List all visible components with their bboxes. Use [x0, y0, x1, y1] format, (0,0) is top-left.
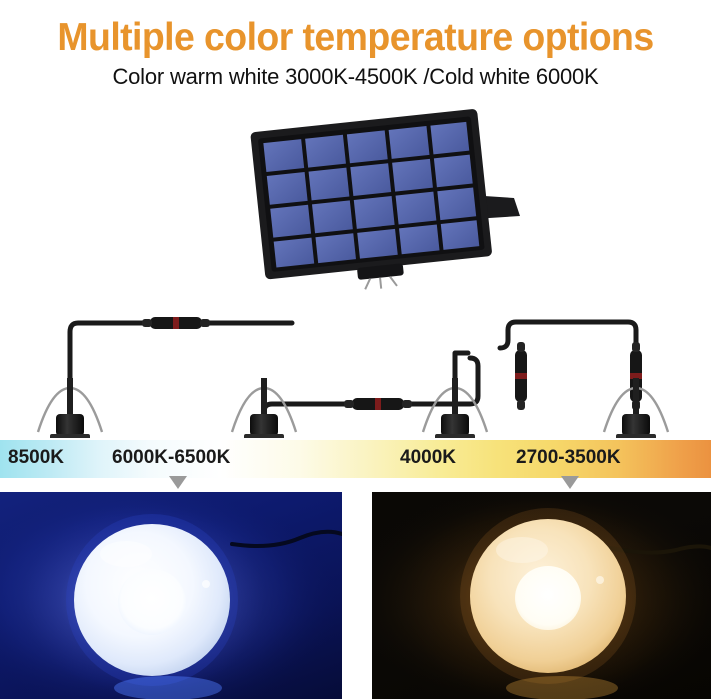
cable-connector — [344, 398, 412, 410]
lamp-center — [515, 566, 581, 630]
cable-connectors — [142, 317, 642, 410]
page-title: Multiple color temperature options — [14, 16, 697, 60]
comparison-photo-row — [0, 492, 711, 699]
pendant-lamp-4 — [568, 378, 704, 438]
photo-cool-white — [0, 492, 342, 699]
cable-connector — [142, 317, 210, 329]
pendant-lamp-2 — [196, 378, 332, 438]
cable-network — [70, 322, 636, 426]
ct-label-2700-3500k: 2700-3500K — [516, 447, 621, 469]
page-subtitle: Color warm white 3000K-4500K /Cold white… — [0, 64, 711, 90]
lamp-center — [118, 569, 186, 635]
ct-label-4000k: 4000K — [400, 447, 456, 469]
color-temperature-bar: 8500K 6000K-6500K 4000K 2700-3500K — [0, 440, 711, 478]
marker-warm-icon — [561, 476, 579, 489]
pendant-lamp-1 — [2, 378, 138, 438]
cable-connector — [515, 342, 527, 410]
photo-warm-white — [372, 492, 711, 699]
solar-panel — [250, 109, 520, 301]
ct-label-8500k: 8500K — [8, 447, 64, 469]
header-banner: Multiple color temperature options Color… — [0, 0, 711, 108]
product-scene — [0, 108, 711, 438]
marker-cool-icon — [169, 476, 187, 489]
ct-label-6000-6500k: 6000K-6500K — [112, 447, 230, 469]
color-temperature-markers — [0, 476, 711, 492]
